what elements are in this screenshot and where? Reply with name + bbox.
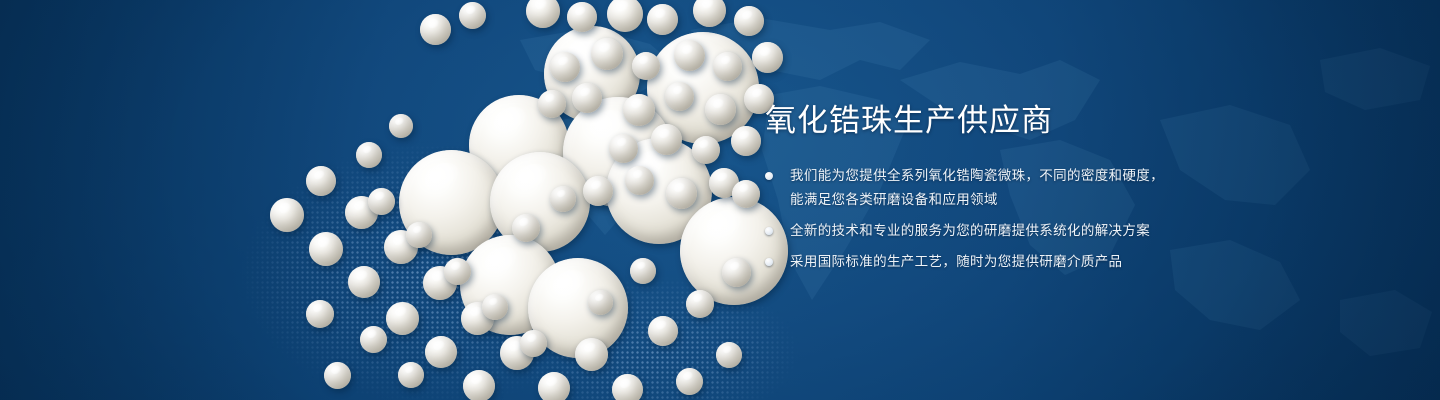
dot-bullet-icon (765, 172, 773, 180)
dot-bullet-icon (765, 227, 773, 235)
feature-bullet-item: 采用国际标准的生产工艺，随时为您提供研磨介质产品 (765, 250, 1325, 274)
feature-bullet-text: 我们能为您提供全系列氧化锆陶瓷微珠，不同的密度和硬度， (790, 164, 1325, 188)
feature-bullet-item: 我们能为您提供全系列氧化锆陶瓷微珠，不同的密度和硬度，能满足您各类研磨设备和应用… (765, 164, 1325, 212)
feature-bullet-list: 我们能为您提供全系列氧化锆陶瓷微珠，不同的密度和硬度，能满足您各类研磨设备和应用… (765, 164, 1325, 274)
feature-bullet-text: 能满足您各类研磨设备和应用领域 (790, 188, 1325, 212)
feature-bullet-item: 全新的技术和专业的服务为您的研磨提供系统化的解决方案 (765, 219, 1325, 243)
feature-bullet-text: 全新的技术和专业的服务为您的研磨提供系统化的解决方案 (790, 219, 1325, 243)
page-title: 氧化锆珠生产供应商 (765, 104, 1325, 138)
promo-banner: 氧化锆珠生产供应商 我们能为您提供全系列氧化锆陶瓷微珠，不同的密度和硬度，能满足… (0, 0, 1440, 400)
dot-bullet-icon (765, 258, 773, 266)
banner-copy-block: 氧化锆珠生产供应商 我们能为您提供全系列氧化锆陶瓷微珠，不同的密度和硬度，能满足… (765, 104, 1325, 274)
feature-bullet-text: 采用国际标准的生产工艺，随时为您提供研磨介质产品 (790, 250, 1325, 274)
